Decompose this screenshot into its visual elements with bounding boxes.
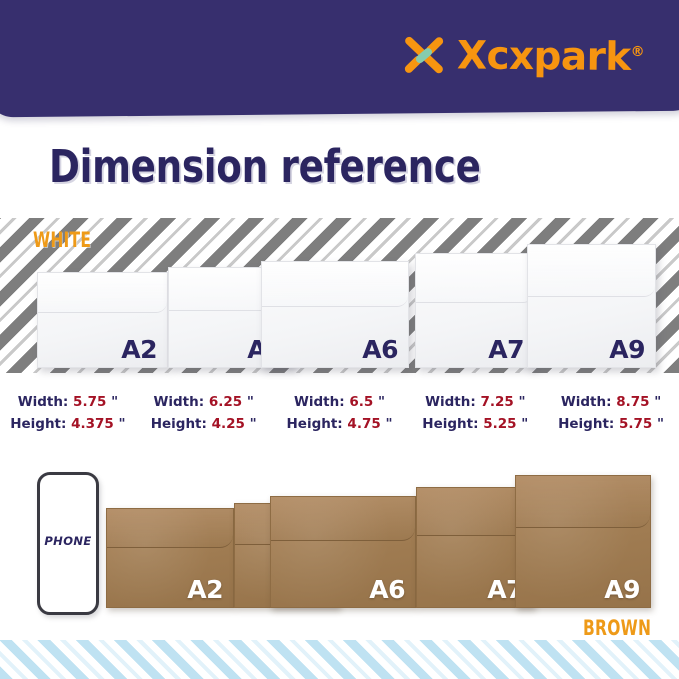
brand-name-text: Xcxpark — [457, 33, 631, 80]
unit-inch: " — [247, 394, 254, 410]
envelope-size-label: A2 — [187, 575, 223, 604]
dimension-column-a9: Width: 8.75 " Height: 5.75 " — [543, 386, 679, 442]
height-row: Height: 5.25 " — [422, 414, 528, 436]
registered-trademark-icon: ® — [631, 44, 645, 60]
unit-inch: " — [119, 416, 126, 432]
height-prefix: Height: — [10, 416, 66, 432]
dimension-column-a7: Width: 7.25 " Height: 5.25 " — [407, 386, 543, 442]
dimension-column-a2: Width: 5.75 " Height: 4.375 " — [0, 386, 136, 442]
width-row: Width: 6.25 " — [153, 392, 253, 414]
width-row: Width: 7.25 " — [425, 392, 525, 414]
height-prefix: Height: — [151, 416, 207, 432]
width-value: 7.25 — [480, 394, 513, 410]
width-prefix: Width: — [153, 394, 204, 410]
height-prefix: Height: — [287, 416, 343, 432]
brown-envelope-a6[interactable]: A6 — [270, 496, 416, 608]
section-label-brown: BROWN — [583, 616, 651, 640]
white-envelope-a2[interactable]: A2 — [37, 272, 168, 368]
brand-name: Xcxpark® — [457, 36, 645, 77]
page-title: Dimension reference — [49, 140, 481, 193]
height-row: Height: 4.25 " — [151, 414, 257, 436]
envelope-size-label: A9 — [609, 335, 645, 364]
white-envelope-a9[interactable]: A9 — [527, 244, 656, 368]
section-label-white: WHITE — [33, 228, 91, 252]
height-value: 4.375 — [71, 416, 114, 432]
bottom-stripe-background — [0, 640, 679, 679]
envelope-flap — [38, 273, 167, 313]
white-envelope-a7[interactable]: A7 — [415, 253, 535, 368]
height-row: Height: 4.375 " — [10, 414, 125, 436]
width-row: Width: 8.75 " — [561, 392, 661, 414]
unit-inch: " — [657, 416, 664, 432]
envelope-size-label: A2 — [121, 335, 157, 364]
unit-inch: " — [518, 394, 525, 410]
envelope-flap — [516, 476, 650, 528]
height-prefix: Height: — [422, 416, 478, 432]
white-envelope-a6[interactable]: A6 — [261, 261, 409, 368]
height-row: Height: 5.75 " — [558, 414, 664, 436]
width-value: 8.75 — [616, 394, 649, 410]
envelope-size-label: A9 — [604, 575, 640, 604]
width-prefix: Width: — [561, 394, 612, 410]
envelope-flap — [262, 262, 408, 307]
height-value: 4.25 — [212, 416, 245, 432]
height-value: 4.75 — [347, 416, 380, 432]
envelope-flap — [107, 509, 233, 548]
width-row: Width: 6.5 " — [294, 392, 385, 414]
phone-size-reference: PHONE — [37, 472, 99, 615]
width-prefix: Width: — [425, 394, 476, 410]
dimension-column-a6: Width: 6.5 " Height: 4.75 " — [272, 386, 408, 442]
width-row: Width: 5.75 " — [18, 392, 118, 414]
height-row: Height: 4.75 " — [287, 414, 393, 436]
envelope-flap — [528, 245, 655, 297]
width-prefix: Width: — [294, 394, 345, 410]
x-mark-logo-icon — [402, 33, 446, 77]
envelope-size-label: A6 — [362, 335, 398, 364]
dimension-table: Width: 5.75 " Height: 4.375 " Width: 6.2… — [0, 386, 679, 442]
unit-inch: " — [111, 394, 118, 410]
height-prefix: Height: — [558, 416, 614, 432]
unit-inch: " — [521, 416, 528, 432]
brown-envelope-a2[interactable]: A2 — [106, 508, 234, 608]
brand-logo: Xcxpark® — [402, 33, 645, 79]
height-value: 5.75 — [619, 416, 652, 432]
unit-inch: " — [250, 416, 257, 432]
envelope-flap — [416, 254, 534, 303]
unit-inch: " — [385, 416, 392, 432]
envelope-size-label: A7 — [488, 335, 524, 364]
envelope-size-label: A6 — [369, 575, 405, 604]
height-value: 5.25 — [483, 416, 516, 432]
infographic-page: Xcxpark® Dimension reference WHITE A2 A4… — [0, 0, 679, 679]
width-prefix: Width: — [18, 394, 69, 410]
unit-inch: " — [654, 394, 661, 410]
dimension-column-a4: Width: 6.25 " Height: 4.25 " — [136, 386, 272, 442]
phone-label: PHONE — [40, 534, 96, 548]
brown-envelope-a9[interactable]: A9 — [515, 475, 651, 608]
unit-inch: " — [378, 394, 385, 410]
width-value: 6.5 — [349, 394, 373, 410]
envelope-flap — [271, 497, 415, 541]
width-value: 5.75 — [73, 394, 106, 410]
width-value: 6.25 — [209, 394, 242, 410]
